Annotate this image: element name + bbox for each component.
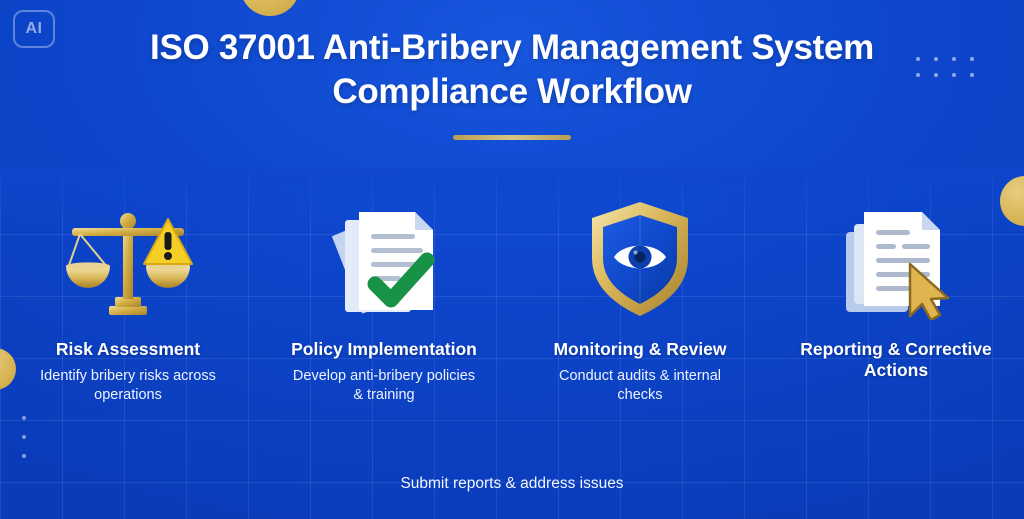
footer-note: Submit reports & address issues (0, 474, 1024, 494)
workflow-step-title: Policy Implementation (291, 339, 477, 360)
page-title-line-2: Compliance Workflow (332, 72, 691, 111)
workflow-step-risk-assessment[interactable]: Risk Assessment Identify bribery risks a… (0, 196, 256, 405)
page-title-line-1: ISO 37001 Anti-Bribery Management System (150, 28, 874, 67)
document-checkmark-icon (323, 196, 445, 320)
workflow-step-description: Develop anti-bribery policies & training (289, 367, 479, 405)
dot (22, 454, 26, 458)
dot-column-bottom-left-decoration (22, 416, 26, 473)
scales-of-justice-warning-icon (62, 196, 194, 320)
workflow-step-title: Monitoring & Review (553, 339, 726, 360)
title-divider (453, 135, 571, 140)
gold-circle-top-decoration (240, 0, 300, 16)
workflow-step-reporting-corrective-actions[interactable]: Reporting & Corrective Actions (768, 196, 1024, 405)
dot (22, 416, 26, 420)
page-title: ISO 37001 Anti-Bribery Management System… (92, 26, 932, 114)
dot (22, 435, 26, 439)
header: ISO 37001 Anti-Bribery Management System… (0, 26, 1024, 140)
workflow-step-policy-implementation[interactable]: Policy Implementation Develop anti-bribe… (256, 196, 512, 405)
infographic-canvas: AI ISO 37001 Anti-Bribery Management Sys… (0, 0, 1024, 519)
workflow-step-monitoring-review[interactable]: Monitoring & Review Conduct audits & int… (512, 196, 768, 405)
workflow-step-description: Identify bribery risks across operations (33, 367, 223, 405)
workflow-step-title: Risk Assessment (56, 339, 200, 360)
workflow-step-title: Reporting & Corrective Actions (776, 339, 1016, 381)
workflow-steps-row: Risk Assessment Identify bribery risks a… (0, 196, 1024, 405)
document-cursor-icon (836, 196, 956, 320)
shield-eye-icon (584, 196, 696, 320)
workflow-step-description: Conduct audits & internal checks (545, 367, 735, 405)
